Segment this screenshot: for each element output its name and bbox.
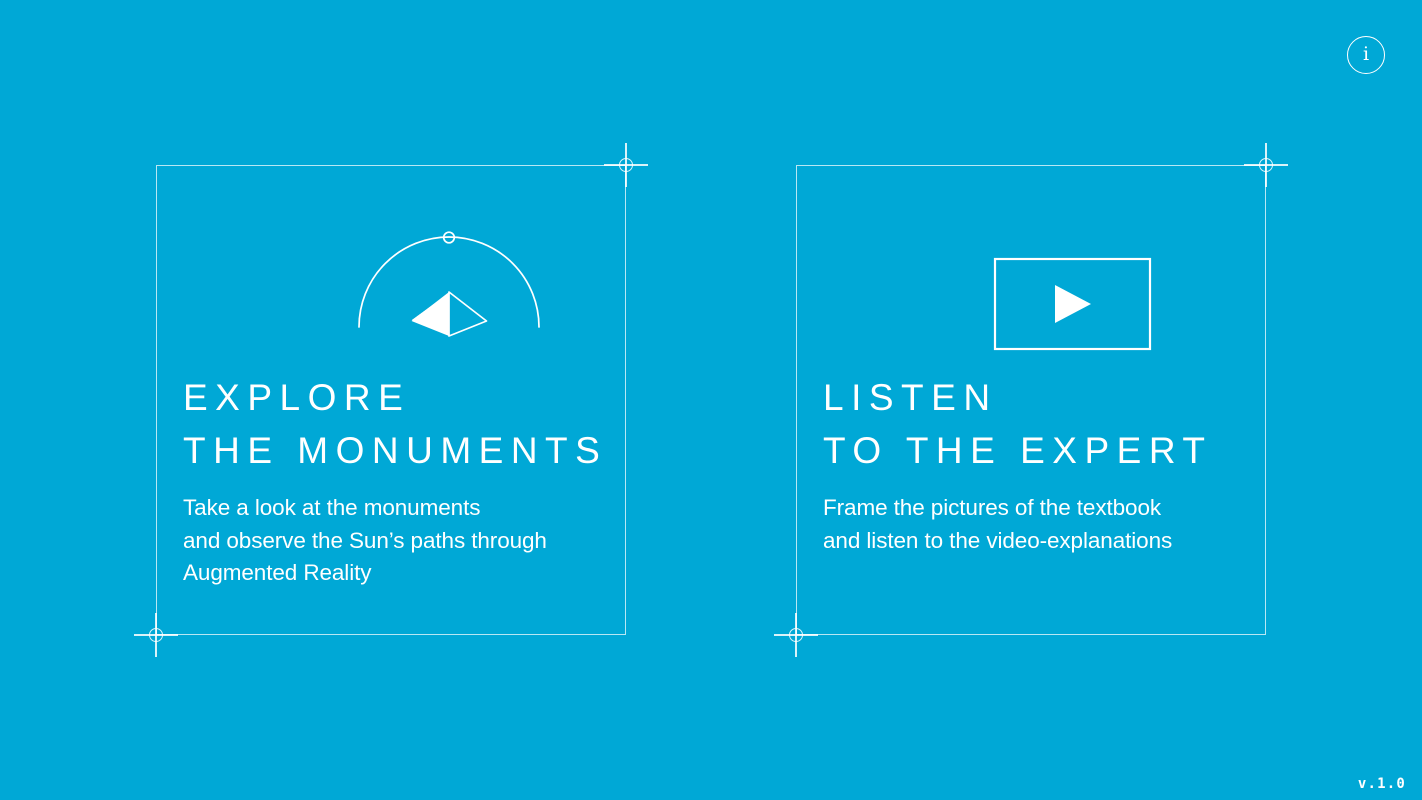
info-icon: i bbox=[1363, 45, 1369, 64]
video-play-icon bbox=[823, 217, 1256, 362]
card-description: Take a look at the monuments and observe… bbox=[183, 492, 547, 590]
crosshair-marker-bottom-left bbox=[774, 613, 818, 657]
card-explore-the-monuments[interactable]: EXPLORE THE MONUMENTS Take a look at the… bbox=[156, 165, 626, 635]
info-button[interactable]: i bbox=[1347, 36, 1385, 74]
version-label: v.1.0 bbox=[1358, 776, 1406, 792]
pyramid-sun-path-icon bbox=[183, 217, 616, 362]
crosshair-marker-bottom-left bbox=[134, 613, 178, 657]
card-title: LISTEN TO THE EXPERT bbox=[823, 371, 1212, 477]
card-description: Frame the pictures of the textbook and l… bbox=[823, 492, 1172, 557]
card-title: EXPLORE THE MONUMENTS bbox=[183, 371, 607, 477]
card-listen-to-the-expert[interactable]: LISTEN TO THE EXPERT Frame the pictures … bbox=[796, 165, 1266, 635]
